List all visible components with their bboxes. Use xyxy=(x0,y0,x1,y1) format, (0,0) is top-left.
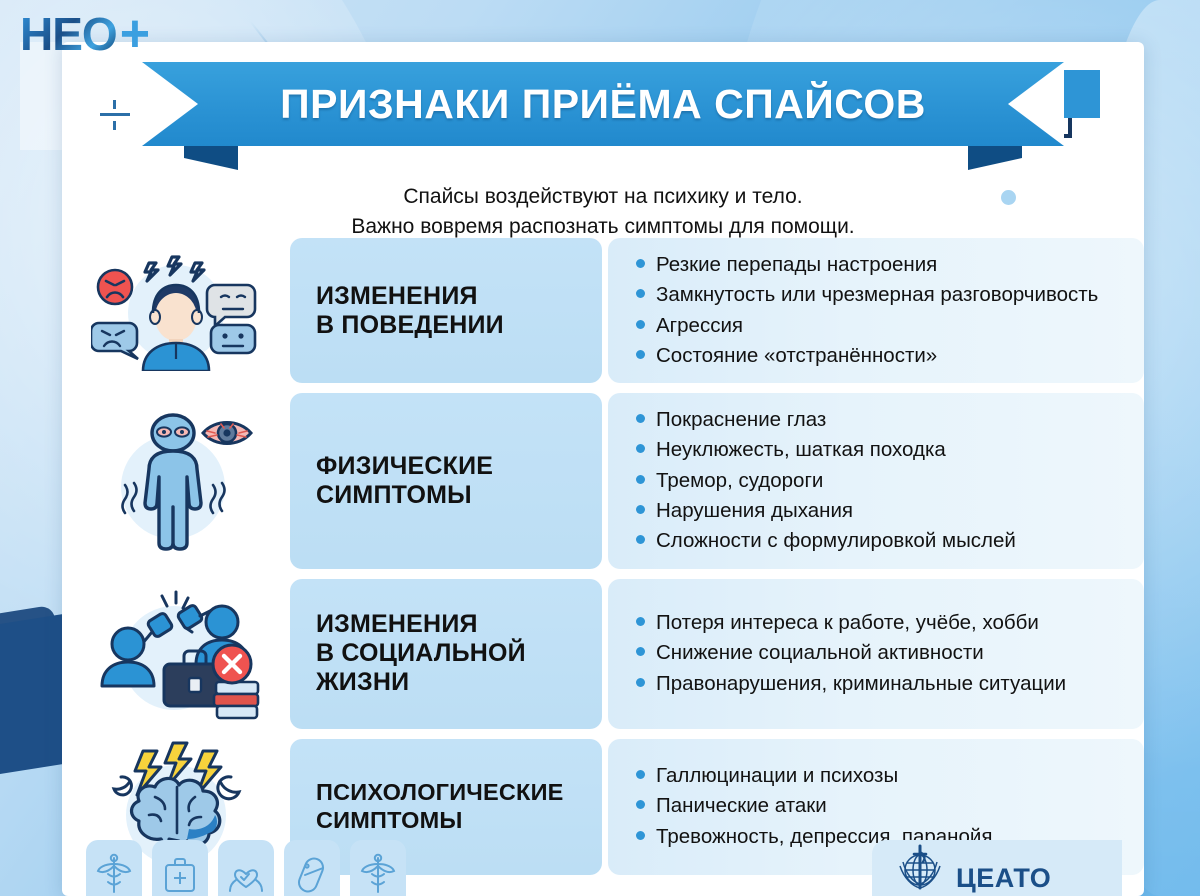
broken-social-link-icon xyxy=(88,584,264,724)
row-psychological-label-text: ПСИХОЛОГИЧЕСКИЕ СИМПТОМЫ xyxy=(316,779,564,834)
list-item-text: Панические атаки xyxy=(656,792,827,820)
heart-in-hands-icon xyxy=(227,854,265,894)
bullet-icon xyxy=(636,770,645,779)
capsule-pill-icon xyxy=(295,854,329,894)
bullet-icon xyxy=(636,678,645,687)
list-item-text: Сложности с формулировкой мыслей xyxy=(656,527,1016,555)
row-behaviour-list: Резкие перепады настроения Замкнутость и… xyxy=(608,238,1144,383)
list-item: Правонарушения, криминальные ситуации xyxy=(636,669,1126,699)
row-behaviour-label: ИЗМЕНЕНИЯ В ПОВЕДЕНИИ xyxy=(290,238,602,383)
crosshair-decor-icon xyxy=(100,100,130,130)
row-physical-label: ФИЗИЧЕСКИЕ СИМПТОМЫ xyxy=(290,393,602,568)
list-item-text: Потеря интереса к работе, учёбе, хобби xyxy=(656,609,1039,637)
list-item: Резкие перепады настроения xyxy=(636,250,1126,280)
list-item: Галлюцинации и психозы xyxy=(636,761,1126,791)
brand-logo[interactable]: НЕО + xyxy=(20,8,149,60)
who-logo-text: ЦЕАТО xyxy=(956,865,1051,892)
trembling-body-red-eye-icon xyxy=(91,411,261,551)
row-physical-label-text: ФИЗИЧЕСКИЕ СИМПТОМЫ xyxy=(316,452,493,510)
bullet-icon xyxy=(636,320,645,329)
row-physical: ФИЗИЧЕСКИЕ СИМПТОМЫ Покраснение глаз Неу… xyxy=(62,393,1144,568)
row-social-list: Потеря интереса к работе, учёбе, хобби С… xyxy=(608,579,1144,729)
bullet-icon xyxy=(636,831,645,840)
row-physical-list: Покраснение глаз Неуклюжесть, шаткая пох… xyxy=(608,393,1144,568)
bullet-icon xyxy=(636,800,645,809)
symptom-rows: ИЗМЕНЕНИЯ В ПОВЕДЕНИИ Резкие перепады на… xyxy=(62,238,1144,885)
brand-logo-plus: + xyxy=(120,8,149,60)
list-item: Тремор, судороги xyxy=(636,466,1126,496)
footer-icon-strip xyxy=(86,840,406,896)
list-item: Снижение социальной активности xyxy=(636,638,1126,668)
list-item: Панические атаки xyxy=(636,791,1126,821)
list-item-text: Резкие перепады настроения xyxy=(656,251,937,279)
footer-tile-heart-in-hands[interactable] xyxy=(218,840,274,896)
bullet-icon xyxy=(636,444,645,453)
list-item-text: Нарушения дыхания xyxy=(656,497,853,525)
bullet-icon xyxy=(636,505,645,514)
row-physical-icon-cell xyxy=(62,393,290,568)
infographic-stage: НЕО + ПРИЗНАКИ ПРИЁМА СПАЙСОВ Спайсы воз… xyxy=(0,0,1200,896)
bullet-icon xyxy=(636,414,645,423)
row-social-label-text: ИЗМЕНЕНИЯ В СОЦИАЛЬНОЙ ЖИЗНИ xyxy=(316,610,526,697)
list-item-text: Правонарушения, криминальные ситуации xyxy=(656,670,1066,698)
bullet-icon xyxy=(636,617,645,626)
list-item-text: Снижение социальной активности xyxy=(656,639,984,667)
banner-body: ПРИЗНАКИ ПРИЁМА СПАЙСОВ xyxy=(142,62,1064,146)
poster-card: ПРИЗНАКИ ПРИЁМА СПАЙСОВ Спайсы воздейств… xyxy=(62,42,1144,896)
list-item-text: Замкнутость или чрезмерная разговорчивос… xyxy=(656,281,1098,309)
row-behaviour: ИЗМЕНЕНИЯ В ПОВЕДЕНИИ Резкие перепады на… xyxy=(62,238,1144,383)
footer-tile-caduceus-1[interactable] xyxy=(86,840,142,896)
caduceus-icon xyxy=(360,852,396,894)
list-item: Сложности с формулировкой мыслей xyxy=(636,526,1126,556)
bullet-icon xyxy=(636,535,645,544)
footer-tile-caduceus-2[interactable] xyxy=(350,840,406,896)
who-logo-block[interactable]: ЦЕАТО xyxy=(872,840,1122,896)
row-behaviour-label-text: ИЗМЕНЕНИЯ В ПОВЕДЕНИИ xyxy=(316,282,504,340)
caduceus-icon xyxy=(96,852,132,894)
list-item: Неуклюжесть, шаткая походка xyxy=(636,435,1126,465)
list-item-text: Состояние «отстранённости» xyxy=(656,342,937,370)
list-item-text: Агрессия xyxy=(656,312,743,340)
mood-swings-icon xyxy=(91,251,261,371)
row-behaviour-icon-cell xyxy=(62,238,290,383)
row-social-label: ИЗМЕНЕНИЯ В СОЦИАЛЬНОЙ ЖИЗНИ xyxy=(290,579,602,729)
list-item-text: Тремор, судороги xyxy=(656,467,823,495)
bullet-icon xyxy=(636,350,645,359)
bullet-icon xyxy=(636,289,645,298)
row-social-icon-cell xyxy=(62,579,290,729)
list-item: Агрессия xyxy=(636,311,1126,341)
who-emblem-icon xyxy=(894,842,946,894)
list-item-text: Покраснение глаз xyxy=(656,406,826,434)
subtitle-line-1: Спайсы воздействуют на психику и тело. xyxy=(62,182,1144,212)
list-item: Состояние «отстранённости» xyxy=(636,341,1126,371)
row-social: ИЗМЕНЕНИЯ В СОЦИАЛЬНОЙ ЖИЗНИ Потеря инте… xyxy=(62,579,1144,729)
list-item: Замкнутость или чрезмерная разговорчивос… xyxy=(636,280,1126,310)
page-title: ПРИЗНАКИ ПРИЁМА СПАЙСОВ xyxy=(280,81,926,128)
brand-logo-text: НЕО xyxy=(20,11,117,57)
list-item: Покраснение глаз xyxy=(636,405,1126,435)
list-item: Нарушения дыхания xyxy=(636,496,1126,526)
bullet-icon xyxy=(636,647,645,656)
subtitle-block: Спайсы воздействуют на психику и тело. В… xyxy=(62,182,1144,242)
bullet-icon xyxy=(636,475,645,484)
list-item-text: Галлюцинации и психозы xyxy=(656,762,898,790)
footer-tile-first-aid-kit[interactable] xyxy=(152,840,208,896)
first-aid-kit-icon xyxy=(162,854,198,894)
bullet-icon xyxy=(636,259,645,268)
poster-footer: ЦЕАТО xyxy=(62,840,1144,896)
list-item-text: Неуклюжесть, шаткая походка xyxy=(656,436,946,464)
footer-tile-capsule-pill[interactable] xyxy=(284,840,340,896)
title-banner: ПРИЗНАКИ ПРИЁМА СПАЙСОВ xyxy=(62,62,1144,172)
list-item: Потеря интереса к работе, учёбе, хобби xyxy=(636,608,1126,638)
